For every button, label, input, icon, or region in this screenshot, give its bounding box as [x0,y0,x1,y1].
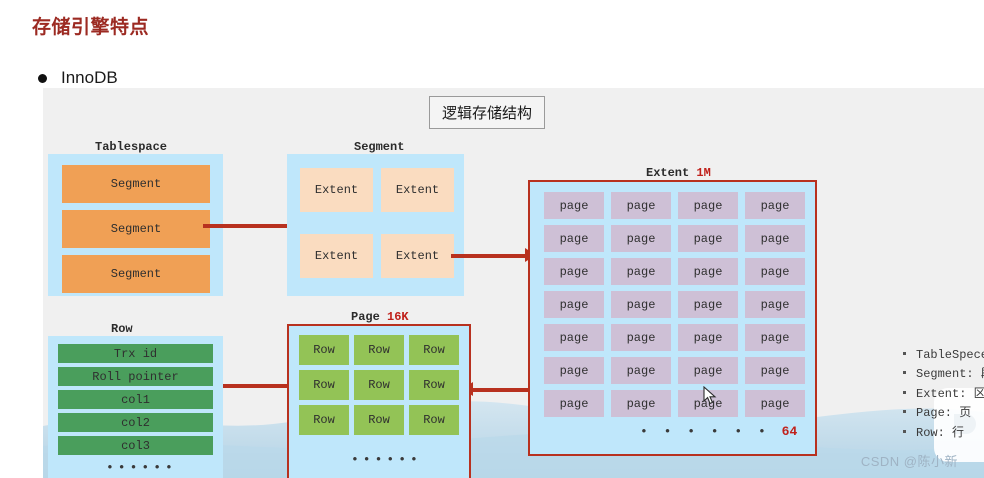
legend-item-label: TableSpece: 表空间 [916,346,984,365]
row-container: Trx id Roll pointer col1 col2 col3 •••••… [48,336,223,478]
segment-extent-3[interactable]: Extent [300,234,373,278]
extent-page-19[interactable]: page [678,324,738,351]
page-more-dots: •••••• [351,452,422,467]
extent-page-28[interactable]: page [745,390,805,417]
tablespace-container: Segment Segment Segment [48,154,223,296]
extent-page-5[interactable]: page [544,225,604,252]
page-row-5[interactable]: Row [354,370,404,400]
logical-storage-diagram: CSDN @陈小新 逻辑存储结构 Tablespace Segment Segm… [43,88,984,478]
extent-page-1[interactable]: page [544,192,604,219]
slide: 存储引擎特点 InnoDB CSDN @陈小新 逻辑存储结构 Tablespac… [0,0,984,478]
extent-page-18[interactable]: page [611,324,671,351]
watermark-text: CSDN @陈小新 [861,451,958,470]
legend-item-label: Page: 页 [916,404,971,423]
segment-extent-1[interactable]: Extent [300,168,373,212]
bullet-innodb: InnoDB [38,68,118,88]
extent-page-21[interactable]: page [544,357,604,384]
extent-dots: • • • • • • [640,424,770,439]
page-size: 16K [387,310,409,324]
tablespace-segment-3[interactable]: Segment [62,255,210,293]
row-field-col2[interactable]: col2 [58,413,213,432]
row-caption: Row [111,322,133,336]
extent-size: 1M [696,166,710,180]
row-field-trx-id[interactable]: Trx id [58,344,213,363]
legend-item-label: Row: 行 [916,424,964,443]
page-row-8[interactable]: Row [354,405,404,435]
legend-bullet-icon [903,410,906,413]
extent-page-16[interactable]: page [745,291,805,318]
extent-page-count: • • • • • • 64 [640,424,797,439]
segment-caption: Segment [354,140,404,154]
extent-page-4[interactable]: page [745,192,805,219]
arrow-page-to-row [220,384,288,388]
segment-container: Extent Extent Extent Extent [287,154,464,296]
extent-page-3[interactable]: page [678,192,738,219]
legend-item-row: Row: 行 [903,424,984,443]
page-row-4[interactable]: Row [299,370,349,400]
segment-extent-2[interactable]: Extent [381,168,454,212]
page-container: Row Row Row Row Row Row Row Row Row ••••… [287,324,471,478]
extent-caption-text: Extent [646,166,689,180]
extent-page-8[interactable]: page [745,225,805,252]
extent-page-14[interactable]: page [611,291,671,318]
arrow-extent-to-page [473,388,530,392]
extent-page-24[interactable]: page [745,357,805,384]
legend-bullet-icon [903,352,906,355]
legend-item-tablespace: TableSpece: 表空间 [903,346,984,365]
legend-item-page: Page: 页 [903,404,984,423]
page-row-7[interactable]: Row [299,405,349,435]
tablespace-caption: Tablespace [95,140,167,154]
page-row-9[interactable]: Row [409,405,459,435]
extent-count-value: 64 [782,424,798,439]
extent-page-25[interactable]: page [544,390,604,417]
extent-page-23[interactable]: page [678,357,738,384]
arrow-segment-to-extent [451,254,527,258]
segment-extent-4[interactable]: Extent [381,234,454,278]
extent-container: page page page page page page page page … [528,180,817,456]
page-row-6[interactable]: Row [409,370,459,400]
page-title: 存储引擎特点 [32,12,149,39]
extent-page-2[interactable]: page [611,192,671,219]
bullet-label: InnoDB [61,68,118,88]
page-caption: Page 16K [351,310,409,324]
page-row-1[interactable]: Row [299,335,349,365]
legend-item-label: Extent: 区 [916,385,984,404]
extent-page-15[interactable]: page [678,291,738,318]
extent-page-6[interactable]: page [611,225,671,252]
row-more-dots: •••••• [106,460,177,475]
extent-page-10[interactable]: page [611,258,671,285]
diagram-title: 逻辑存储结构 [429,96,545,129]
legend-bullet-icon [903,391,906,394]
extent-page-22[interactable]: page [611,357,671,384]
legend-bullet-icon [903,371,906,374]
tablespace-segment-1[interactable]: Segment [62,165,210,203]
extent-page-17[interactable]: page [544,324,604,351]
legend-item-segment: Segment: 段 [903,365,984,384]
legend-item-label: Segment: 段 [916,365,984,384]
extent-page-7[interactable]: page [678,225,738,252]
legend-bullet-icon [903,430,906,433]
tablespace-segment-2[interactable]: Segment [62,210,210,248]
extent-caption: Extent 1M [646,166,711,180]
row-field-roll-pointer[interactable]: Roll pointer [58,367,213,386]
arrow-tablespace-to-segment [203,224,291,228]
bullet-dot-icon [38,74,47,83]
legend-item-extent: Extent: 区 [903,385,984,404]
page-row-3[interactable]: Row [409,335,459,365]
extent-page-12[interactable]: page [745,258,805,285]
page-caption-text: Page [351,310,380,324]
mouse-cursor-icon [703,386,717,406]
extent-page-9[interactable]: page [544,258,604,285]
row-field-col3[interactable]: col3 [58,436,213,455]
extent-page-13[interactable]: page [544,291,604,318]
extent-page-26[interactable]: page [611,390,671,417]
row-field-col1[interactable]: col1 [58,390,213,409]
extent-page-11[interactable]: page [678,258,738,285]
legend-list: TableSpece: 表空间 Segment: 段 Extent: 区 Pag… [863,346,984,443]
extent-page-20[interactable]: page [745,324,805,351]
page-row-2[interactable]: Row [354,335,404,365]
